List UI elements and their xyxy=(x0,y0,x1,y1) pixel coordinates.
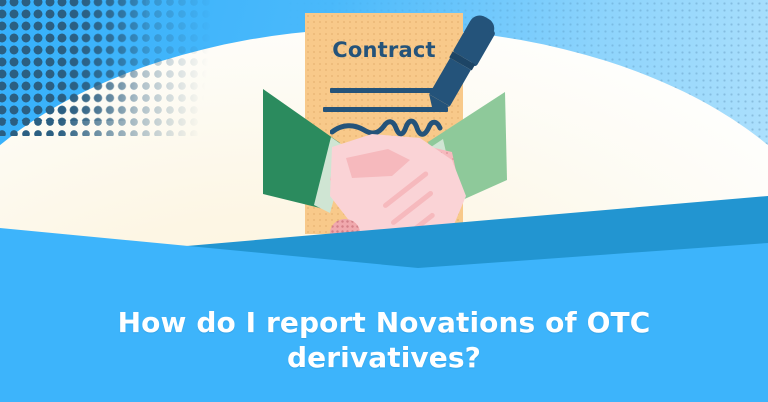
contract-title-text: Contract xyxy=(305,38,463,62)
headline-text: How do I report Novations of OTC derivat… xyxy=(60,305,708,376)
contract-rule-line xyxy=(330,88,442,93)
banner: Contract xyxy=(0,0,768,402)
